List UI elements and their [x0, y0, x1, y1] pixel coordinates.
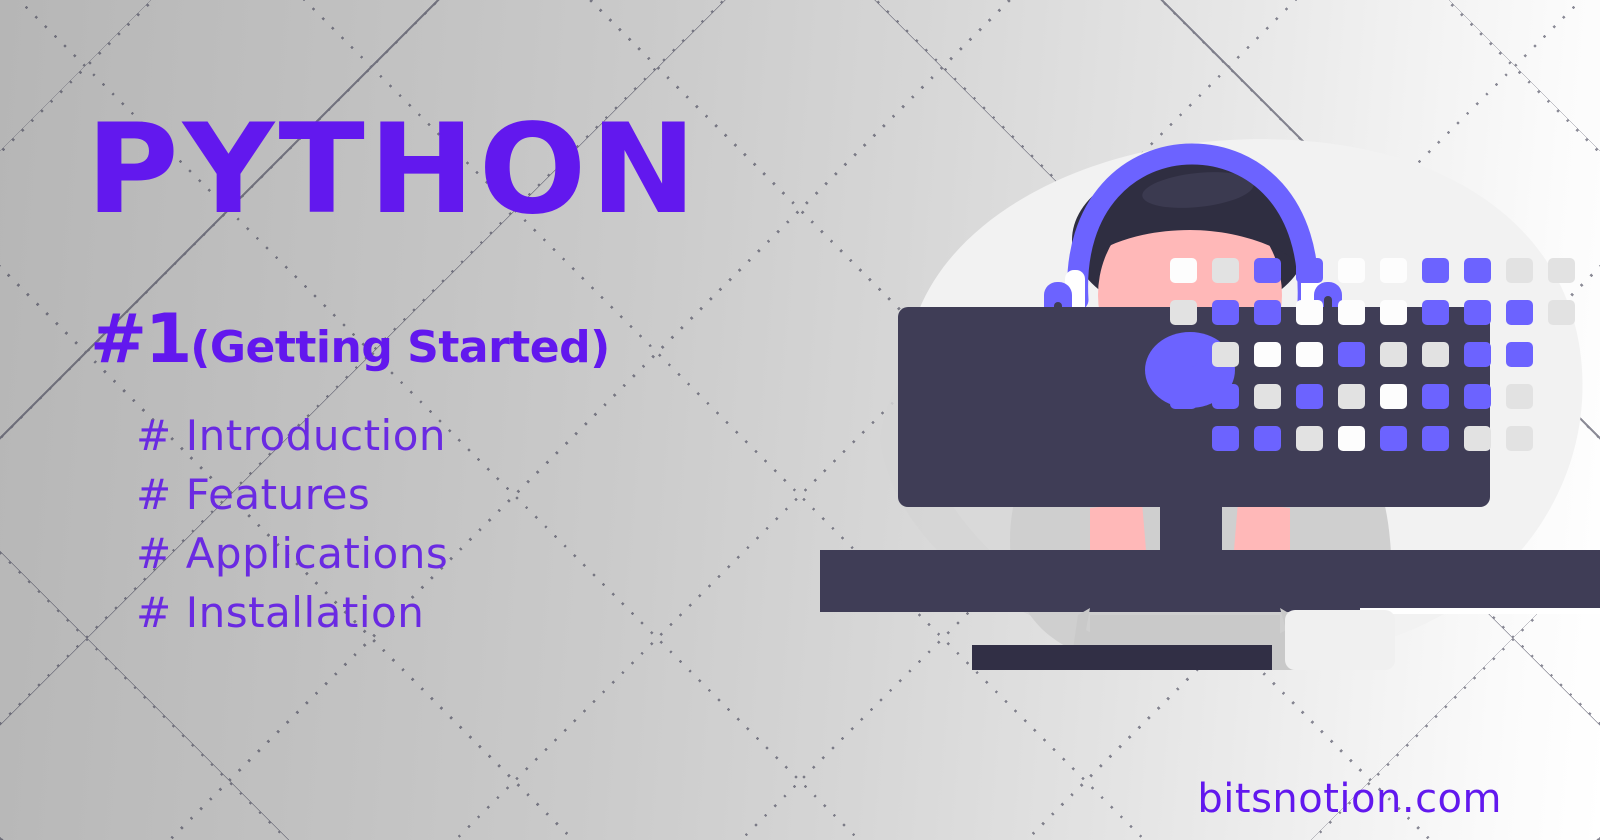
pixel-tile [1380, 342, 1407, 367]
pixel-tile [1254, 342, 1281, 367]
pixel-tile [1170, 384, 1197, 409]
pixel-tile-grid [1170, 258, 1600, 388]
hash-bullet-icon: # [136, 529, 172, 578]
pixel-tile [1338, 258, 1365, 283]
pixel-tile [1506, 258, 1533, 283]
pixel-tile [1170, 342, 1197, 367]
pixel-tile [1464, 426, 1491, 451]
pixel-tile [1380, 258, 1407, 283]
list-item: #Applications [136, 524, 448, 583]
pixel-tile [1506, 426, 1533, 451]
list-item: #Features [136, 465, 448, 524]
episode-heading: #1(Getting Started) [90, 306, 610, 374]
hash-bullet-icon: # [136, 411, 172, 460]
pixel-tile [1338, 384, 1365, 409]
pixel-tile [1590, 384, 1600, 409]
pixel-tile [1590, 258, 1600, 283]
pixel-tile [1422, 426, 1449, 451]
hash-bullet-icon: # [136, 588, 172, 637]
keyboard [972, 645, 1272, 670]
pixel-tile [1296, 426, 1323, 451]
pixel-tile [1212, 342, 1239, 367]
pixel-tile [1464, 300, 1491, 325]
list-item: #Introduction [136, 406, 448, 465]
pixel-tile [1548, 342, 1575, 367]
episode-label: (Getting Started) [190, 322, 609, 373]
topic-label: Applications [186, 529, 449, 578]
pixel-tile [1212, 384, 1239, 409]
banner-canvas: PYTHON #1(Getting Started) #Introduction… [0, 0, 1600, 840]
pixel-tile [1170, 426, 1197, 451]
pixel-tile [1212, 426, 1239, 451]
topic-label: Features [186, 470, 371, 519]
page-title: PYTHON [86, 108, 700, 232]
pixel-tile [1464, 342, 1491, 367]
pixel-tile [1254, 384, 1281, 409]
topic-label: Installation [186, 588, 425, 637]
pixel-tile [1170, 258, 1197, 283]
site-watermark: bitsnotion.com [1197, 776, 1502, 822]
topic-label: Introduction [186, 411, 446, 460]
desk-edge-highlight [1360, 608, 1600, 614]
pixel-tile [1464, 384, 1491, 409]
paper-sheet [1285, 610, 1395, 670]
pixel-tile [1590, 300, 1600, 325]
pixel-tile [1380, 300, 1407, 325]
pixel-tile [1338, 300, 1365, 325]
pixel-tile [1548, 300, 1575, 325]
pixel-tile [1296, 342, 1323, 367]
pixel-tile [1422, 384, 1449, 409]
hash-bullet-icon: # [136, 470, 172, 519]
pixel-tile [1422, 258, 1449, 283]
pixel-tile [1380, 426, 1407, 451]
pixel-tile [1548, 384, 1575, 409]
pixel-tile [1296, 300, 1323, 325]
pixel-tile [1506, 342, 1533, 367]
pixel-tile [1506, 300, 1533, 325]
pixel-tile [1212, 300, 1239, 325]
pixel-tile [1254, 300, 1281, 325]
list-item: #Installation [136, 583, 448, 642]
episode-number: #1 [90, 300, 190, 379]
pixel-tile [1506, 384, 1533, 409]
pixel-tile [1296, 258, 1323, 283]
pixel-tile [1590, 426, 1600, 451]
desk [820, 550, 1600, 612]
pixel-tile [1590, 342, 1600, 367]
pixel-tile [1254, 258, 1281, 283]
pixel-tile [1548, 426, 1575, 451]
pixel-tile [1338, 342, 1365, 367]
pixel-tile [1170, 300, 1197, 325]
pixel-tile [1464, 258, 1491, 283]
pixel-tile [1254, 426, 1281, 451]
pixel-tile [1296, 384, 1323, 409]
pixel-tile [1548, 258, 1575, 283]
right-hand [1234, 502, 1290, 550]
pixel-tile [1422, 300, 1449, 325]
pixel-tile [1422, 342, 1449, 367]
left-hand [1090, 502, 1146, 550]
topic-list: #Introduction #Features #Applications #I… [136, 406, 448, 642]
pixel-tile [1212, 258, 1239, 283]
pixel-tile [1338, 426, 1365, 451]
pixel-tile [1380, 384, 1407, 409]
